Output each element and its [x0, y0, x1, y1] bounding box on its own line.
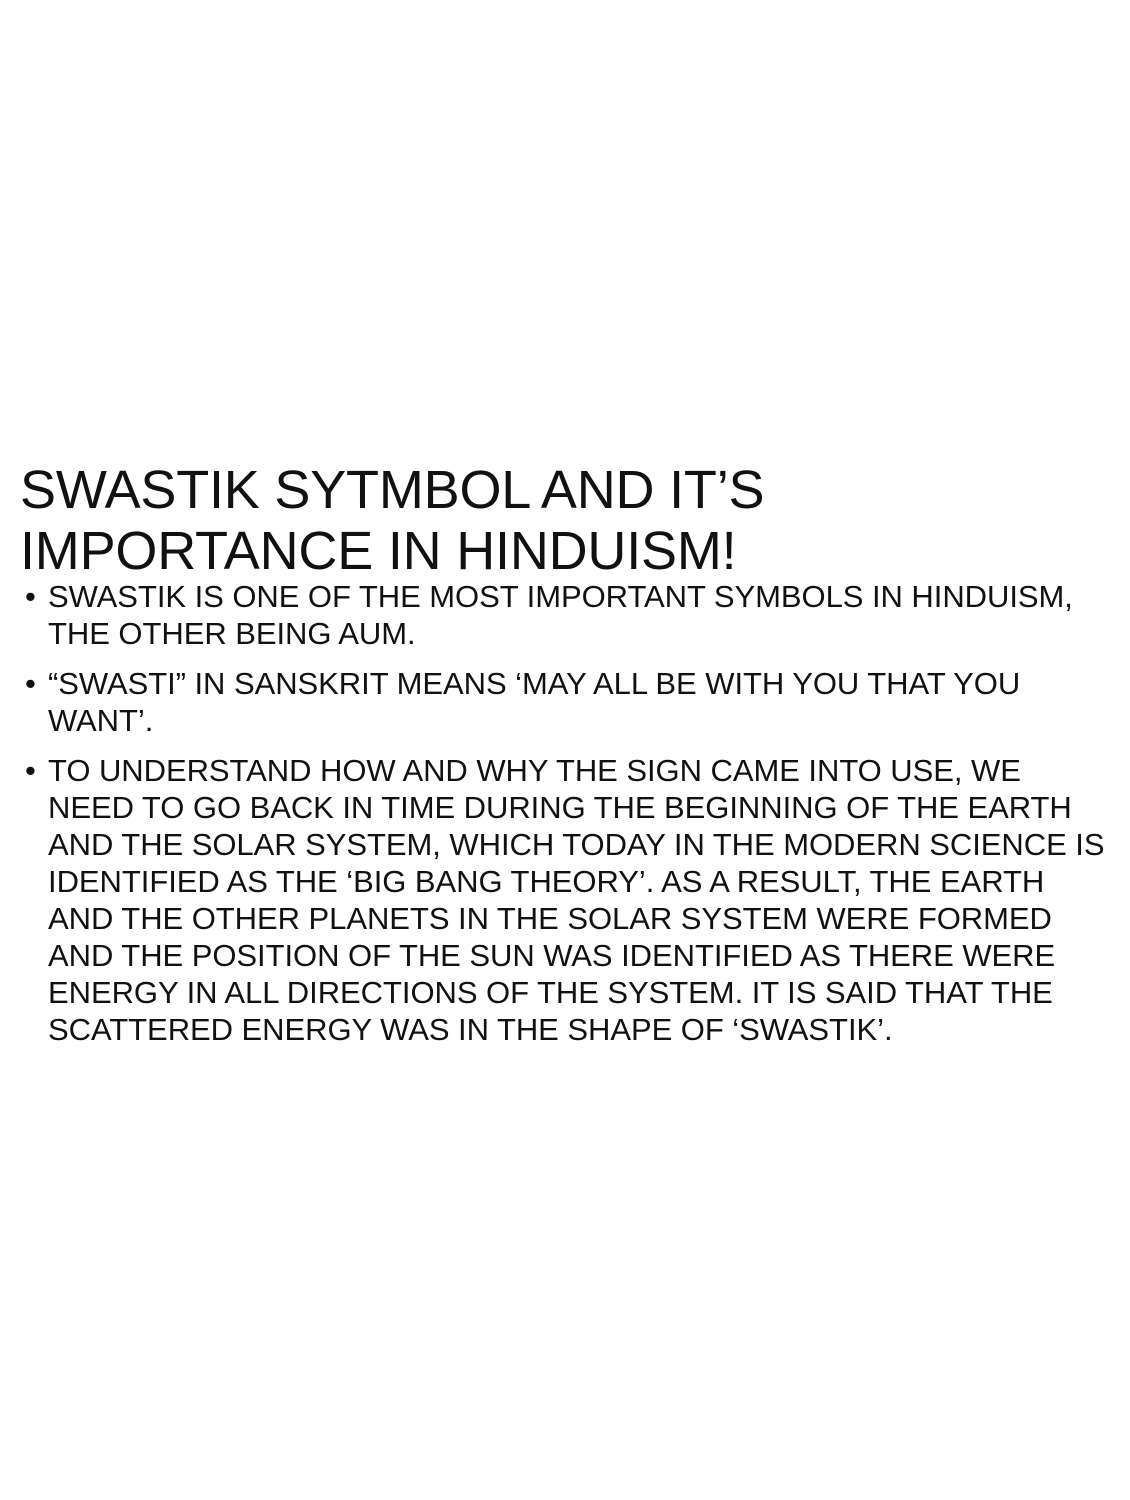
slide-canvas: SWASTIK SYTMBOL AND IT’S IMPORTANCE IN H…: [0, 0, 1130, 1500]
bullet-point-icon: •: [25, 578, 45, 615]
list-item: • TO UNDERSTAND HOW AND WHY THE SIGN CAM…: [20, 752, 1110, 1048]
page-title: SWASTIK SYTMBOL AND IT’S IMPORTANCE IN H…: [20, 460, 1110, 582]
list-item-text: SWASTIK IS ONE OF THE MOST IMPORTANT SYM…: [48, 578, 1110, 652]
list-item: • “SWASTI” IN SANSKRIT MEANS ‘MAY ALL BE…: [20, 665, 1110, 739]
list-item-text: TO UNDERSTAND HOW AND WHY THE SIGN CAME …: [48, 752, 1110, 1048]
bullet-list: • SWASTIK IS ONE OF THE MOST IMPORTANT S…: [20, 578, 1110, 1048]
list-item: • SWASTIK IS ONE OF THE MOST IMPORTANT S…: [20, 578, 1110, 652]
bullet-point-icon: •: [25, 752, 45, 789]
list-item-text: “SWASTI” IN SANSKRIT MEANS ‘MAY ALL BE W…: [48, 665, 1110, 739]
bullet-point-icon: •: [25, 665, 45, 702]
